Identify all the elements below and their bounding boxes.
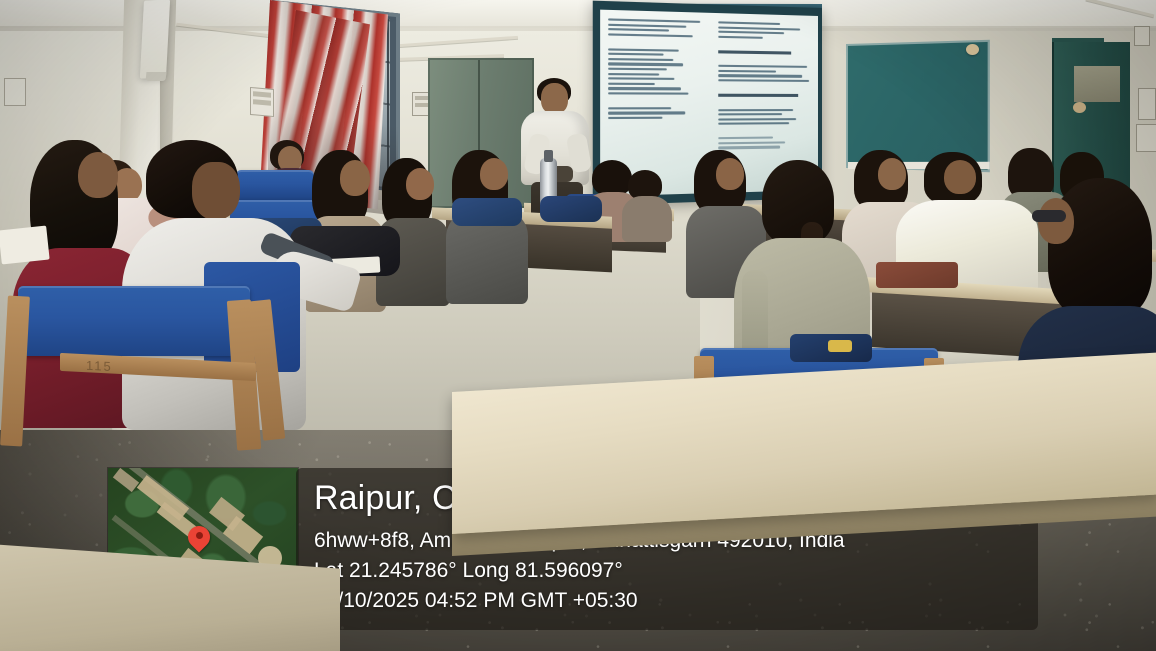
chair-back-far: [236, 170, 314, 200]
electrical-box: [1134, 26, 1150, 46]
location-timestamp: 08/10/2025 04:52 PM GMT +05:30: [314, 588, 638, 614]
door-knob: [1073, 102, 1086, 113]
wall-switch-left: [4, 78, 26, 106]
bottle-cap: [544, 150, 553, 162]
location-coordinates: Lat 21.245786° Long 81.596097°: [314, 558, 623, 584]
photo-screenshot: 115 GPS Map Camera: [0, 0, 1156, 651]
location-pin-icon: [188, 526, 210, 556]
electrical-box: [1138, 88, 1156, 120]
bag-strap-clip: [828, 340, 852, 352]
tube-light-cap: [146, 72, 167, 81]
wall-switchboard: [250, 87, 274, 117]
electrical-box: [1136, 124, 1156, 152]
desk-edge-wood: [876, 262, 958, 288]
backpack: [452, 198, 522, 226]
board-mount-knob: [966, 44, 979, 55]
tube-light-fixture: [140, 0, 170, 79]
eyeglasses: [1032, 210, 1066, 222]
door-notice-panel: [1074, 66, 1120, 102]
papers: [0, 226, 50, 265]
chair-back-foreground: [18, 286, 250, 356]
backpack: [540, 196, 602, 222]
